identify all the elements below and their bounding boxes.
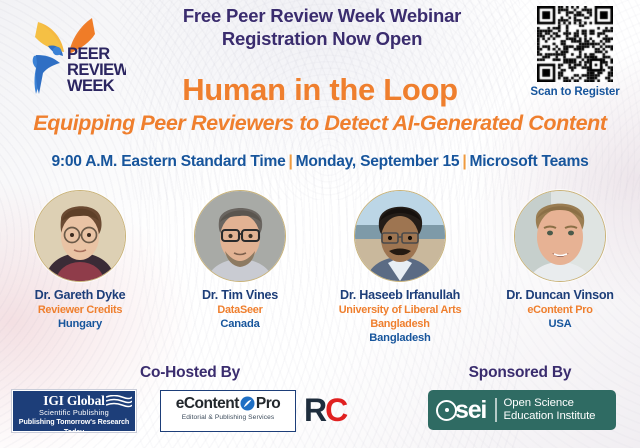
osei-ring-icon: [436, 400, 457, 421]
speaker-photo-tim-vines: [195, 191, 285, 281]
sponsored-by-label: Sponsored By: [400, 364, 640, 382]
headline: Free Peer Review Week Webinar Registrati…: [128, 4, 516, 50]
avatar: [194, 190, 286, 282]
igi-global-logo[interactable]: IGI Global Scientific Publishing Publish…: [12, 390, 136, 432]
econtent-pro-name-e: e: [176, 395, 184, 412]
event-details-bar: 9:00 A.M. Eastern Standard Time|Monday, …: [0, 152, 640, 171]
cohosted-by-label: Co-Hosted By: [60, 364, 320, 382]
speaker-card: Dr. Tim Vines DataSeer Canada: [160, 190, 320, 360]
osei-divider: [495, 398, 496, 422]
speaker-card: Dr. Gareth Dyke Reviewer Credits Hungary: [0, 190, 160, 360]
details-separator-2: |: [459, 153, 469, 170]
igi-global-tagline-2: Publishing Tomorrow's Research Today: [13, 417, 135, 432]
speaker-name: Dr. Haseeb Irfanullah: [320, 288, 480, 303]
igi-waves-icon: [106, 395, 132, 408]
speaker-name: Dr. Duncan Vinson: [480, 288, 640, 303]
econtent-pro-name-pro: Pro: [256, 395, 280, 412]
page-subtitle: Equipping Peer Reviewers to Detect AI-Ge…: [4, 111, 636, 136]
econtent-pro-name: eContent Pro: [161, 395, 295, 413]
speaker-photo-gareth-dyke: [35, 191, 125, 281]
osei-name-line-2: Education Institute: [504, 410, 596, 424]
speaker-country: Canada: [160, 317, 320, 331]
qr-code-icon[interactable]: [537, 6, 613, 82]
osei-wordmark: sei: [428, 397, 486, 423]
speaker-name: Dr. Tim Vines: [160, 288, 320, 303]
speaker-country: Bangladesh: [320, 331, 480, 345]
reviewer-credits-logo[interactable]: RC: [304, 390, 362, 430]
event-date: Monday, September 15: [296, 153, 460, 170]
event-platform: Microsoft Teams: [469, 153, 588, 170]
speakers-row: Dr. Gareth Dyke Reviewer Credits Hungary: [0, 190, 640, 360]
econtent-pro-tagline: Editorial & Publishing Services: [161, 413, 295, 422]
avatar: [354, 190, 446, 282]
event-time: 9:00 A.M. Eastern Standard Time: [52, 153, 286, 170]
footer: Co-Hosted By Sponsored By IGI Global Sci…: [0, 362, 640, 448]
avatar: [34, 190, 126, 282]
speaker-photo-duncan-vinson: [515, 191, 605, 281]
rc-letter-r: R: [304, 392, 325, 428]
headline-line-2: Registration Now Open: [128, 27, 516, 50]
speaker-org: eContent Pro: [480, 303, 640, 317]
econtent-pro-logo[interactable]: eContent Pro Editorial & Publishing Serv…: [160, 390, 296, 432]
speaker-card: Dr. Duncan Vinson eContent Pro USA: [480, 190, 640, 360]
speaker-country: Hungary: [0, 317, 160, 331]
webinar-poster: PEER REVIEW WEEK Free Peer Review Week W…: [0, 0, 640, 448]
osei-mark-text: sei: [455, 397, 486, 423]
osei-name-line-1: Open Science: [504, 397, 596, 411]
osei-logo[interactable]: sei Open Science Education Institute: [428, 390, 616, 430]
speaker-card: Dr. Haseeb Irfanullah University of Libe…: [320, 190, 480, 360]
headline-line-1: Free Peer Review Week Webinar: [128, 4, 516, 27]
page-title: Human in the Loop: [60, 73, 580, 107]
avatar: [514, 190, 606, 282]
speaker-org: Reviewer Credits: [0, 303, 160, 317]
speaker-country: USA: [480, 317, 640, 331]
econtent-pro-swirl-icon: [240, 396, 255, 411]
rc-letter-c: C: [325, 392, 346, 428]
speaker-name: Dr. Gareth Dyke: [0, 288, 160, 303]
details-separator-1: |: [286, 153, 296, 170]
igi-global-tagline-1: Scientific Publishing: [13, 408, 135, 417]
econtent-pro-name-content: Content: [184, 395, 239, 412]
speaker-org: University of Liberal Arts Bangladesh: [320, 303, 480, 331]
osei-full-name: Open Science Education Institute: [504, 397, 596, 424]
speaker-photo-haseeb-irfanullah: [355, 191, 445, 281]
speaker-org: DataSeer: [160, 303, 320, 317]
